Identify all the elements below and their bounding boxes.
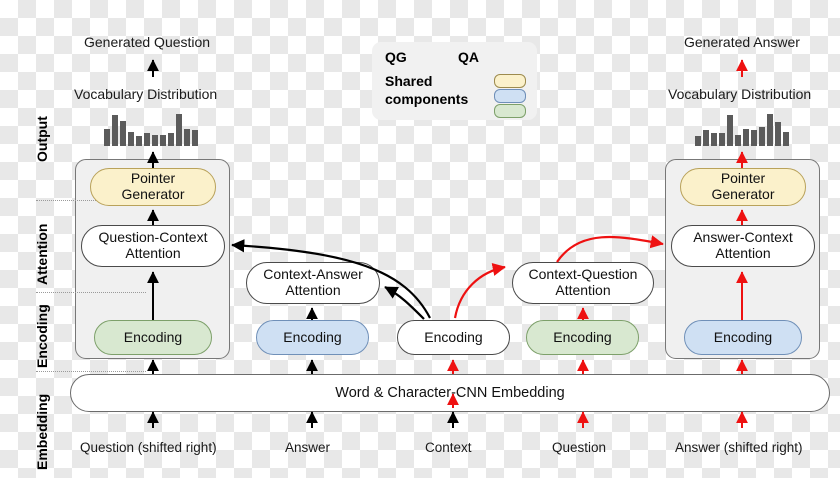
legend-shared-line1: Shared (385, 73, 432, 89)
right-encoding-label: Encoding (714, 330, 772, 346)
right-pointer-generator-line2: Generator (711, 186, 774, 202)
histogram-bar (759, 127, 765, 146)
stage-label-attention: Attention (34, 224, 50, 285)
legend-shared-label: Shared components (385, 73, 468, 108)
divider-attention-encoding (36, 292, 146, 293)
context-question-attention-line1: Context-Question (529, 266, 638, 282)
stage-label-encoding: Encoding (34, 304, 50, 368)
right-vocabulary-distribution-label: Vocabulary Distribution (668, 86, 811, 102)
generated-answer-label: Generated Answer (684, 34, 800, 50)
histogram-bar (168, 133, 174, 146)
histogram-bar (711, 133, 717, 146)
histogram-bar (136, 136, 142, 146)
context-question-attention-node[interactable]: Context-Question Attention (512, 262, 654, 304)
question-context-attention-line2: Attention (125, 245, 180, 261)
legend-shared-line2: components (385, 91, 468, 107)
histogram-bar (695, 136, 701, 146)
histogram-bar (767, 114, 773, 146)
context-question-attention-line2: Attention (555, 282, 610, 298)
histogram-bar (104, 129, 110, 146)
answer-context-attention-node[interactable]: Answer-Context Attention (671, 225, 815, 267)
histogram-bar (160, 135, 166, 146)
embedding-bar-label: Word & Character-CNN Embedding (335, 385, 564, 401)
histogram-bar (719, 133, 725, 146)
answer-context-attention-line2: Attention (715, 245, 770, 261)
left-vocabulary-histogram (104, 110, 198, 146)
question-encoding-node[interactable]: Encoding (526, 320, 639, 355)
histogram-bar (152, 135, 158, 146)
histogram-bar (184, 129, 190, 146)
question-context-attention-line1: Question-Context (99, 229, 208, 245)
context-encoding-label: Encoding (424, 330, 482, 346)
question-encoding-label: Encoding (553, 330, 611, 346)
left-pointer-generator-node[interactable]: Pointer Generator (90, 168, 216, 206)
legend-qg-label: QG (385, 49, 407, 65)
histogram-bar (727, 115, 733, 146)
context-encoding-node[interactable]: Encoding (397, 320, 510, 355)
histogram-bar (120, 121, 126, 146)
histogram-bar (112, 115, 118, 146)
legend-pill-encoder-green (494, 104, 526, 118)
right-encoding-node[interactable]: Encoding (684, 320, 802, 355)
stage-label-embedding: Embedding (34, 394, 50, 470)
input-label-question-shifted-right: Question (shifted right) (80, 440, 217, 455)
generated-question-label: Generated Question (84, 34, 210, 50)
input-label-question: Question (552, 440, 606, 455)
histogram-bar (176, 114, 182, 146)
right-vocabulary-histogram (695, 110, 789, 146)
right-pointer-generator-line1: Pointer (721, 170, 765, 186)
legend-pill-pointer-generator (494, 74, 526, 88)
stage-label-output: Output (34, 116, 50, 162)
histogram-bar (735, 135, 741, 146)
right-pointer-generator-node[interactable]: Pointer Generator (680, 168, 806, 206)
histogram-bar (703, 130, 709, 146)
histogram-bar (775, 122, 781, 146)
histogram-bar (144, 133, 150, 146)
context-answer-attention-node[interactable]: Context-Answer Attention (246, 262, 380, 304)
left-pointer-generator-line2: Generator (121, 186, 184, 202)
divider-encoding-embedding (36, 371, 146, 372)
context-answer-attention-line1: Context-Answer (263, 266, 363, 282)
left-encoding-label: Encoding (124, 330, 182, 346)
histogram-bar (783, 132, 789, 146)
answer-encoding-label: Encoding (283, 330, 341, 346)
histogram-bar (128, 132, 134, 146)
input-label-context: Context (425, 440, 472, 455)
histogram-bar (751, 130, 757, 146)
context-answer-attention-line2: Attention (285, 282, 340, 298)
input-label-answer: Answer (285, 440, 330, 455)
left-pointer-generator-line1: Pointer (131, 170, 175, 186)
left-encoding-node[interactable]: Encoding (94, 320, 212, 355)
embedding-bar[interactable]: Word & Character-CNN Embedding (70, 374, 830, 412)
answer-context-attention-line1: Answer-Context (693, 229, 793, 245)
left-vocabulary-distribution-label: Vocabulary Distribution (74, 86, 217, 102)
input-label-answer-shifted-right: Answer (shifted right) (675, 440, 803, 455)
question-context-attention-node[interactable]: Question-Context Attention (81, 225, 225, 267)
histogram-bar (192, 130, 198, 146)
histogram-bar (743, 129, 749, 146)
legend-pill-encoder-blue (494, 89, 526, 103)
legend-box: QG QA Shared components (372, 42, 537, 120)
answer-encoding-node[interactable]: Encoding (256, 320, 369, 355)
legend-qa-label: QA (458, 49, 479, 65)
